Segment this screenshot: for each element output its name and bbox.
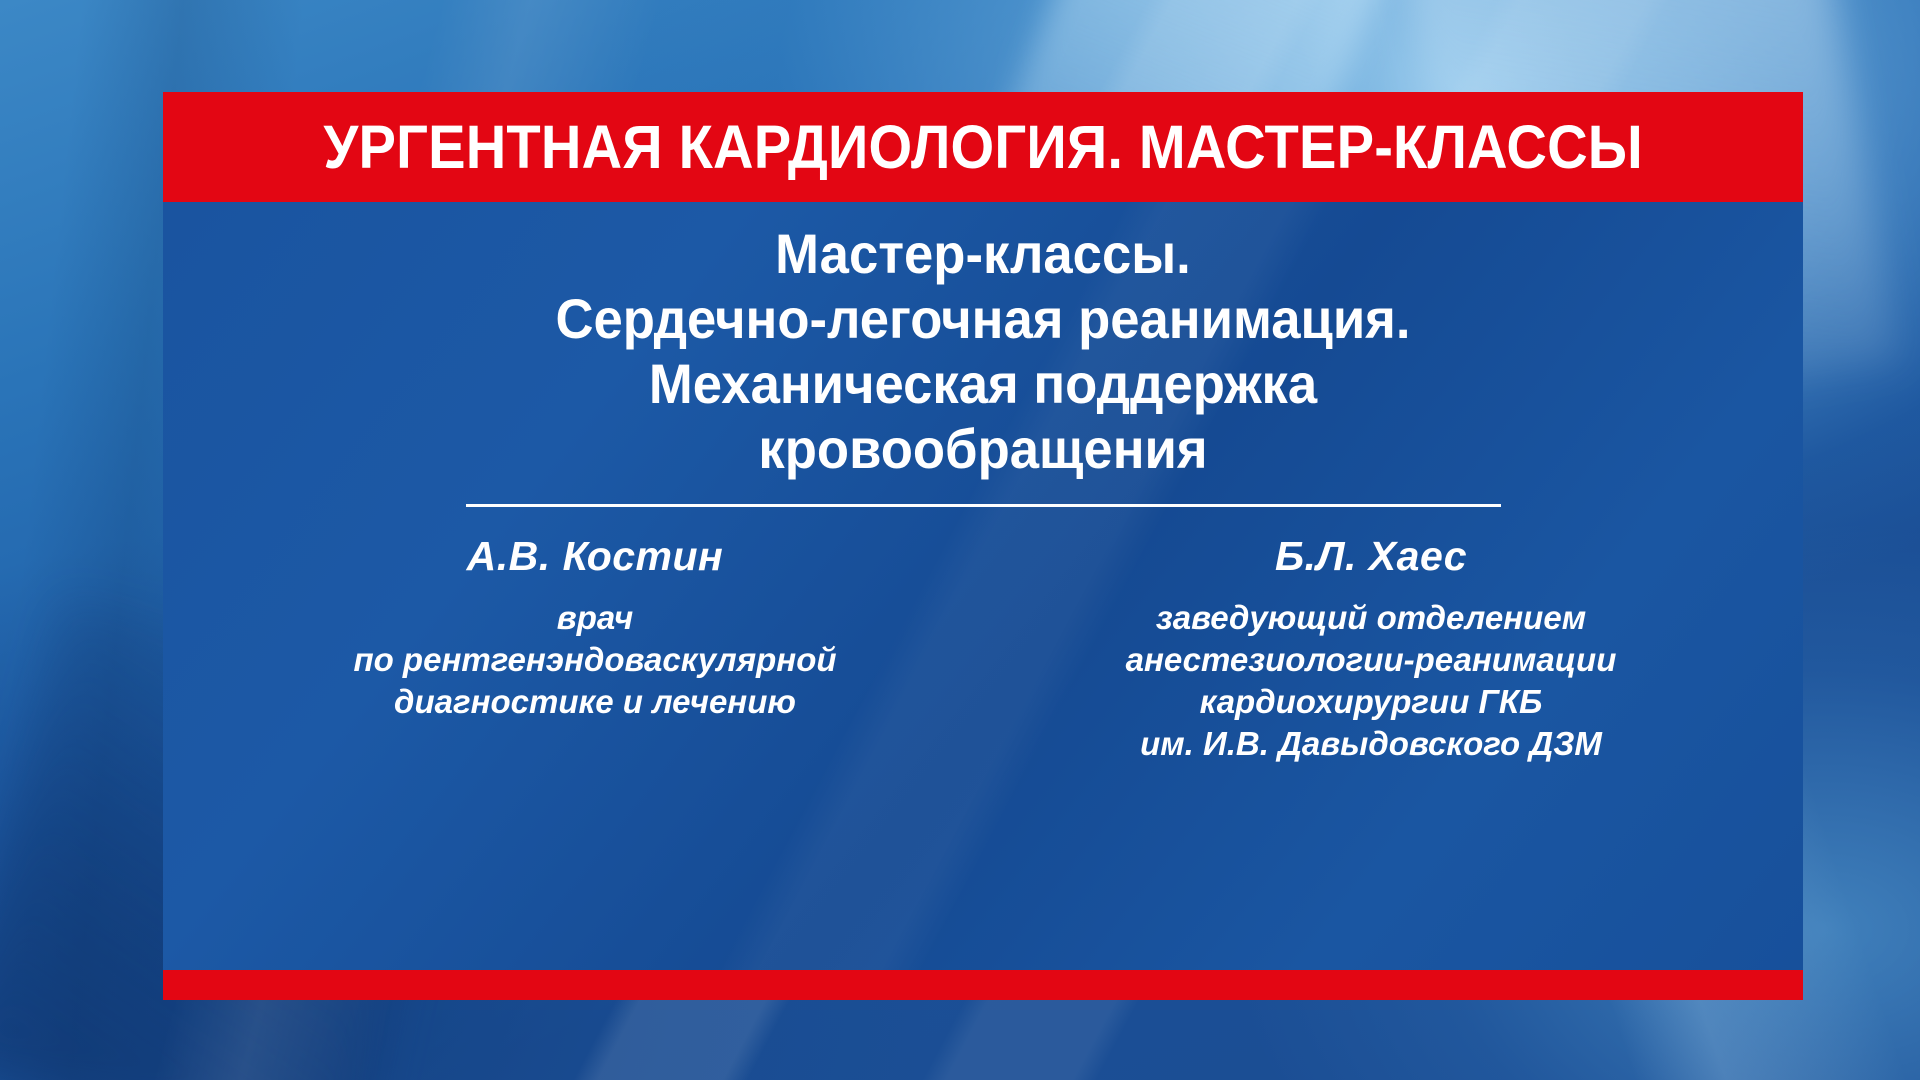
header-banner: УРГЕНТНАЯ КАРДИОЛОГИЯ. МАСТЕР-КЛАССЫ — [163, 92, 1803, 202]
title-line: кровообращения — [254, 417, 1713, 482]
speaker-role-line: кардиохирургии ГКБ — [993, 681, 1749, 723]
horizontal-divider — [466, 504, 1501, 507]
speaker-role-line: врач — [217, 597, 973, 639]
speakers-section: А.В. Костин врач по рентгенэндоваскулярн… — [207, 533, 1759, 970]
speaker-right: Б.Л. Хаес заведующий отделением анестези… — [983, 533, 1759, 970]
speaker-role-line: заведующий отделением — [993, 597, 1749, 639]
speaker-role-line: по рентгенэндоваскулярной — [217, 639, 973, 681]
speaker-role-line: анестезиологии-реанимации — [993, 639, 1749, 681]
speaker-name: А.В. Костин — [217, 533, 973, 580]
title-line: Сердечно-легочная реанимация. — [254, 287, 1713, 352]
page-title: Мастер-классы. Сердечно-легочная реанима… — [254, 216, 1713, 482]
speaker-role: заведующий отделением анестезиологии-реа… — [993, 597, 1749, 765]
speaker-role: врач по рентгенэндоваскулярной диагности… — [217, 597, 973, 723]
banner-title: УРГЕНТНАЯ КАРДИОЛОГИЯ. МАСТЕР-КЛАССЫ — [323, 112, 1643, 182]
title-line: Механическая поддержка — [254, 352, 1713, 417]
title-line: Мастер-классы. — [254, 222, 1713, 287]
footer-bar — [163, 970, 1803, 1000]
speaker-left: А.В. Костин врач по рентгенэндоваскулярн… — [207, 533, 983, 970]
speaker-name: Б.Л. Хаес — [993, 533, 1749, 580]
speaker-role-line: им. И.В. Давыдовского ДЗМ — [993, 723, 1749, 765]
content-panel: Мастер-классы. Сердечно-легочная реанима… — [163, 202, 1803, 970]
slide-card: УРГЕНТНАЯ КАРДИОЛОГИЯ. МАСТЕР-КЛАССЫ Мас… — [163, 92, 1803, 1000]
speaker-role-line: диагностике и лечению — [217, 681, 973, 723]
